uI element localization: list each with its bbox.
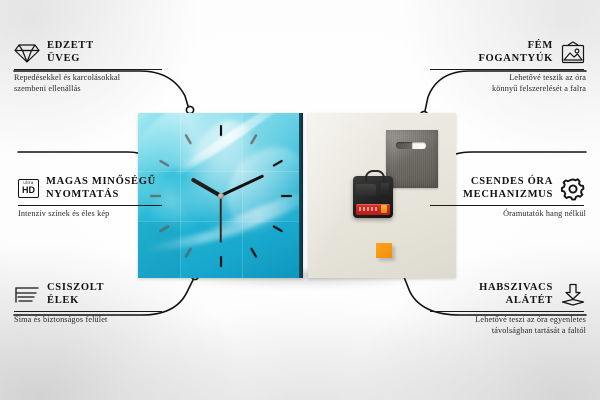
hour-tick-11 xyxy=(184,134,191,145)
callout-desc-line1: Repedésekkel és karcolásokkal xyxy=(14,73,164,84)
callout-polished-edges: CSISZOLT ÉLEK Sima és biztonságos felüle… xyxy=(14,282,164,326)
foam-pad xyxy=(376,243,392,258)
callout-title-line2: MECHANIZMUS xyxy=(430,189,553,202)
callout-desc-line2: távolságban tartását a faltól xyxy=(430,326,586,337)
hour-hand xyxy=(190,177,221,197)
hour-tick-3 xyxy=(281,195,292,197)
hour-tick-2 xyxy=(272,159,283,166)
hour-tick-7 xyxy=(184,247,191,258)
callout-desc-line2: könnyű felszerelését a falra xyxy=(430,84,586,95)
callout-desc-line1: Óramutatók hang nélkül xyxy=(430,209,586,220)
callout-title-line2: ÜVEG xyxy=(47,53,94,66)
hour-tick-1 xyxy=(250,134,257,145)
hour-tick-5 xyxy=(250,247,257,258)
callout-metal-hangers: FÉM FOGANTYÚK Lehetővé teszik az óra kön… xyxy=(430,40,586,94)
callout-title: HABSZIVACS ALÁTÉT xyxy=(430,282,586,307)
wall-clock-product xyxy=(138,113,456,278)
hour-tick-12 xyxy=(220,125,222,136)
callout-title: CSENDES ÓRA MECHANIZMUS xyxy=(430,176,586,201)
diamond-icon xyxy=(14,42,40,64)
callout-silent-mechanism: CSENDES ÓRA MECHANIZMUS Óramutatók hang … xyxy=(430,176,586,220)
callout-title-line1: FÉM xyxy=(430,40,553,53)
callout-title-line2: ÉLEK xyxy=(47,295,104,308)
callout-title: EDZETT ÜVEG xyxy=(14,40,164,65)
mechanism-side xyxy=(381,183,389,197)
minute-hand xyxy=(220,174,264,197)
battery xyxy=(356,204,390,215)
battery-terminal xyxy=(381,205,387,213)
mechanism-loop xyxy=(365,170,385,182)
callout-title: FÉM FOGANTYÚK xyxy=(430,40,586,65)
product-infographic: EDZETT ÜVEG Repedésekkel és karcolásokka… xyxy=(0,0,600,400)
callout-title-line1: HABSZIVACS xyxy=(430,282,553,295)
callout-foam-spacer: HABSZIVACS ALÁTÉT Lehetővé teszi az óra … xyxy=(430,282,586,336)
callout-desc-line1: Sima és biztonságos felület xyxy=(14,315,164,326)
mechanism-body xyxy=(356,184,376,196)
callout-title: CSISZOLT ÉLEK xyxy=(14,282,164,307)
hour-tick-6 xyxy=(220,256,222,267)
callout-rule xyxy=(430,311,584,312)
callout-title-line2: FOGANTYÚK xyxy=(430,53,553,66)
ultra-hd-icon: ultra HD xyxy=(18,179,39,197)
callout-rule xyxy=(14,311,162,312)
polished-edge-icon xyxy=(14,284,40,306)
gear-icon xyxy=(560,177,586,201)
quartz-mechanism xyxy=(353,176,393,218)
callout-desc-line1: Intenzív színek és éles kép xyxy=(18,209,164,220)
callout-title: ultra HD MAGAS MINŐSÉGŰ NYOMTATÁS xyxy=(18,176,164,201)
callout-title-line2: NYOMTATÁS xyxy=(46,189,156,202)
picture-frame-hanger-icon xyxy=(560,41,586,65)
hanger-slot xyxy=(396,142,426,149)
callout-rule xyxy=(430,205,584,206)
callout-title-line2: ALÁTÉT xyxy=(430,295,553,308)
hour-tick-10 xyxy=(159,159,170,166)
battery-label xyxy=(359,207,379,211)
callout-high-quality-print: ultra HD MAGAS MINŐSÉGŰ NYOMTATÁS Intenz… xyxy=(18,176,164,220)
second-hand xyxy=(220,196,222,243)
callout-title-line1: CSENDES ÓRA xyxy=(430,176,553,189)
callout-tempered-glass: EDZETT ÜVEG Repedésekkel és karcolásokka… xyxy=(14,40,164,94)
callout-rule xyxy=(14,69,162,70)
callout-rule xyxy=(18,205,162,206)
callout-title-line1: CSISZOLT xyxy=(47,282,104,295)
callout-desc-line1: Lehetővé teszik az óra xyxy=(430,73,586,84)
callout-desc-line2: szembeni ellenállás xyxy=(14,84,164,95)
callout-title-line1: MAGAS MINŐSÉGŰ xyxy=(46,176,156,189)
glass-edge xyxy=(299,113,303,278)
foam-pad-arrow-icon xyxy=(560,283,586,307)
ultra-hd-icon-large-label: HD xyxy=(22,186,35,196)
callout-desc-line1: Lehetővé teszi az óra egyenletes xyxy=(430,315,586,326)
hour-tick-8 xyxy=(159,225,170,232)
callout-rule xyxy=(430,69,584,70)
callout-title-line1: EDZETT xyxy=(47,40,94,53)
clock-hub xyxy=(218,193,224,199)
hour-tick-4 xyxy=(272,225,283,232)
